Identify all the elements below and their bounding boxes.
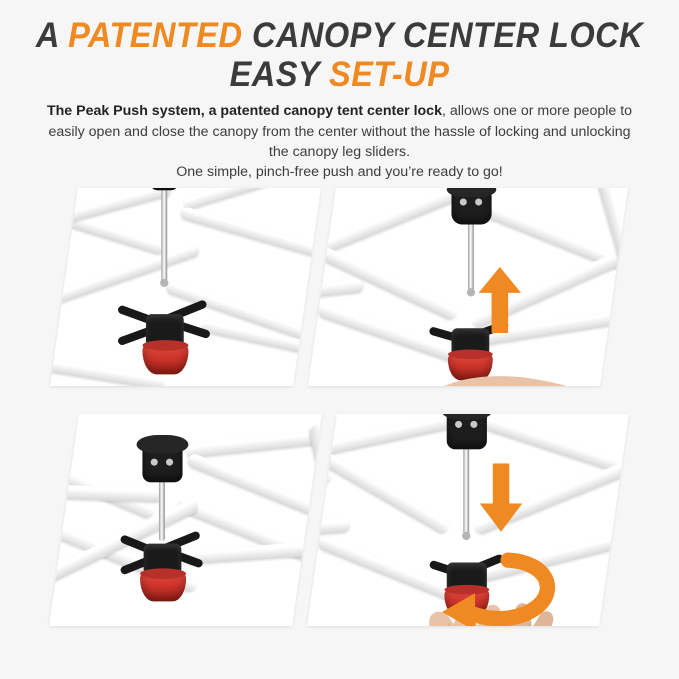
center-rod bbox=[161, 188, 167, 283]
frame-tube bbox=[182, 188, 321, 211]
center-lock-slider-top bbox=[448, 350, 493, 359]
top-hub-cap bbox=[137, 435, 189, 454]
hand-open-palm bbox=[404, 359, 628, 386]
headline-text-b: CANOPY CENTER LOCK bbox=[242, 16, 643, 55]
panel-3-scene bbox=[49, 414, 322, 626]
panel-grid bbox=[0, 186, 679, 656]
center-rod bbox=[463, 447, 469, 537]
frame-tube bbox=[308, 278, 364, 307]
headline-text-c: EASY bbox=[230, 55, 329, 94]
panel-4 bbox=[307, 414, 629, 626]
hub-pin bbox=[475, 199, 482, 206]
headline-highlight-patented: PATENTED bbox=[68, 16, 242, 55]
frame-tube bbox=[180, 206, 321, 274]
arrow-up-icon bbox=[479, 267, 521, 333]
headline-line-2: EASY SET-UP bbox=[24, 57, 655, 93]
hub-pin bbox=[460, 199, 467, 206]
panel-4-scene bbox=[307, 414, 629, 626]
headline-line-1: A PATENTED CANOPY CENTER LOCK bbox=[24, 18, 655, 54]
hub-pin bbox=[470, 421, 477, 428]
center-lock-slider-top bbox=[142, 340, 188, 351]
frame-tube bbox=[319, 188, 462, 255]
panel-1-scene bbox=[50, 188, 321, 386]
center-lock-slider-top bbox=[140, 568, 186, 579]
description-text: The Peak Push system, a patented canopy … bbox=[40, 101, 640, 182]
hub-pin bbox=[166, 459, 173, 466]
frame-tube bbox=[49, 438, 156, 520]
infographic-root: A PATENTED CANOPY CENTER LOCK EASY SET-U… bbox=[0, 0, 679, 679]
hub-pin bbox=[151, 459, 158, 466]
panel-1 bbox=[50, 188, 321, 386]
hub-pin bbox=[455, 421, 462, 428]
frame-tube bbox=[201, 319, 321, 373]
panel-2 bbox=[308, 188, 628, 386]
center-rod-tip bbox=[160, 279, 168, 287]
panel-2-scene bbox=[308, 188, 628, 386]
description-line-1: The Peak Push system, a patented canopy … bbox=[47, 103, 570, 119]
description-rest-1: , allows one or more bbox=[442, 103, 570, 119]
description-line-4: One simple, pinch-free push and you’re r… bbox=[176, 164, 503, 180]
frame-tube bbox=[185, 425, 322, 459]
headline-highlight-setup: SET-UP bbox=[329, 55, 449, 94]
center-rod-tip bbox=[462, 532, 470, 540]
page-title: A PATENTED CANOPY CENTER LOCK EASY SET-U… bbox=[0, 0, 679, 92]
center-rod bbox=[159, 480, 165, 541]
description-bold-lead: The Peak Push system, a patented canopy … bbox=[47, 103, 442, 119]
panel-3 bbox=[49, 414, 322, 626]
center-rod-tip bbox=[467, 288, 475, 296]
headline-text-a: A bbox=[36, 16, 68, 55]
center-rod bbox=[468, 222, 474, 293]
rotation-arrow-icon bbox=[435, 548, 565, 626]
arrow-down-icon bbox=[480, 463, 522, 531]
